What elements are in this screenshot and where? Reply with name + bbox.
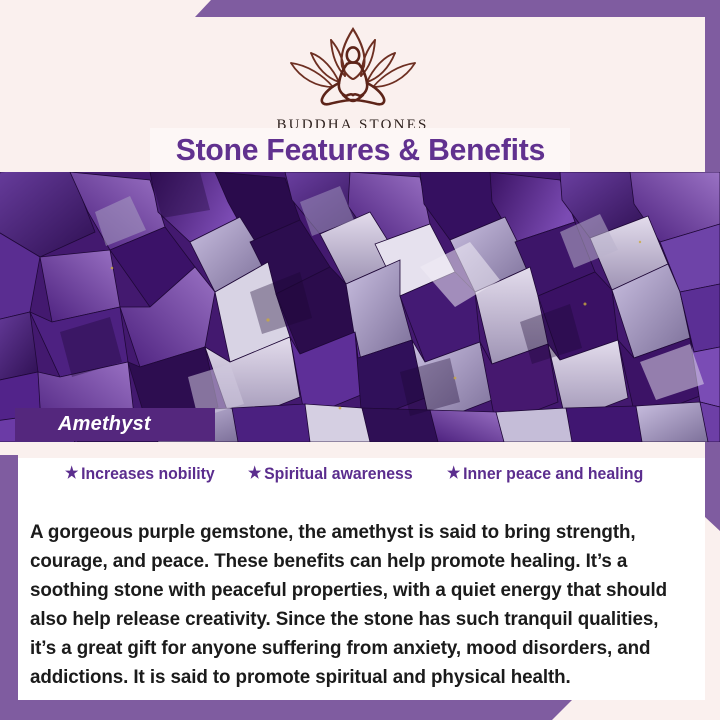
header: BUDDHA STONES Stone Features & Benefits (0, 17, 705, 172)
benefit-label: Inner peace and healing (463, 464, 643, 484)
page-title-box: Stone Features & Benefits (150, 128, 570, 172)
lotus-meditation-icon (277, 23, 429, 115)
page-title: Stone Features & Benefits (175, 132, 544, 168)
content-panel: ★ Increases nobility ★ Spiritual awarene… (18, 458, 705, 700)
benefit-item: ★ Inner peace and healing (447, 464, 643, 484)
amethyst-photo (0, 172, 720, 442)
benefit-item: ★ Spiritual awareness (248, 464, 413, 484)
stone-name: Amethyst (58, 413, 151, 436)
stone-description: A gorgeous purple gemstone, the amethyst… (30, 518, 673, 692)
star-icon: ★ (248, 466, 261, 482)
decor-left-bar (0, 455, 18, 720)
decor-top-bar (195, 0, 720, 17)
infographic-page: BUDDHA STONES Stone Features & Benefits (0, 0, 720, 720)
benefits-list: ★ Increases nobility ★ Spiritual awarene… (18, 464, 705, 484)
cream-divider (18, 442, 705, 458)
brand-logo: BUDDHA STONES (0, 23, 705, 134)
benefit-label: Spiritual awareness (264, 464, 413, 484)
star-icon: ★ (447, 466, 460, 482)
stone-name-badge: Amethyst (15, 408, 215, 441)
amethyst-crystal-graphic (0, 172, 720, 442)
benefit-item: ★ Increases nobility (65, 464, 215, 484)
decor-bottom-bar (0, 700, 572, 720)
star-icon: ★ (65, 466, 78, 482)
benefit-label: Increases nobility (81, 464, 215, 484)
